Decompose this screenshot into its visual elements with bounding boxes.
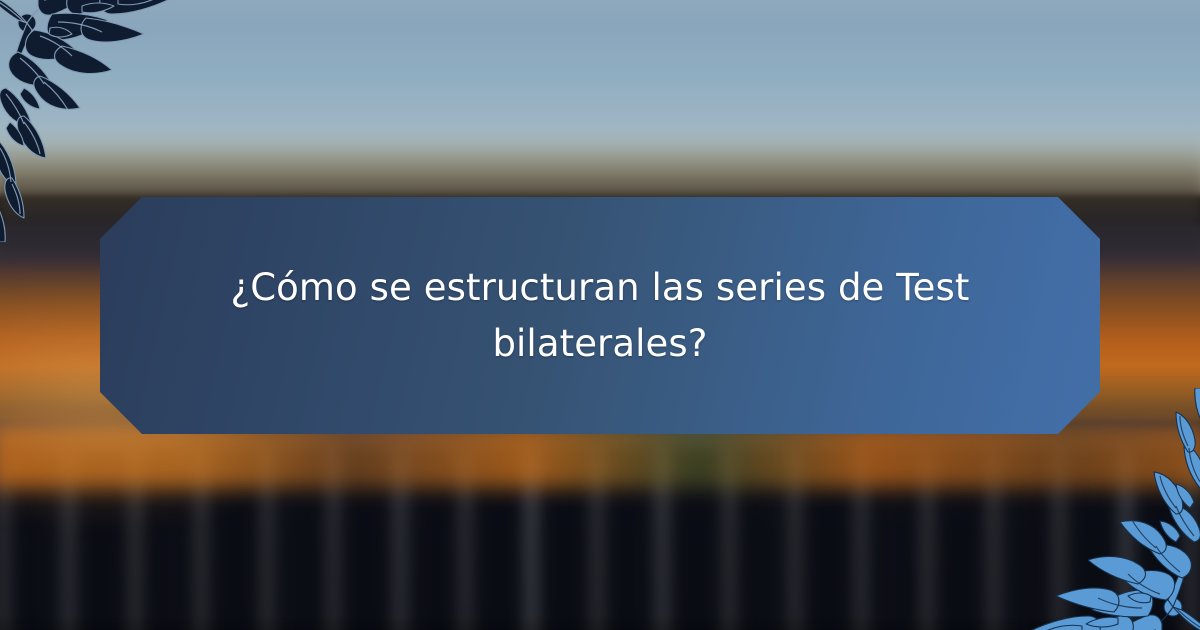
share-card: ¿Cómo se estructuran las series de Test … — [0, 0, 1200, 630]
page-title: ¿Cómo se estructuran las series de Test … — [160, 260, 1040, 372]
title-banner: ¿Cómo se estructuran las series de Test … — [100, 197, 1100, 434]
